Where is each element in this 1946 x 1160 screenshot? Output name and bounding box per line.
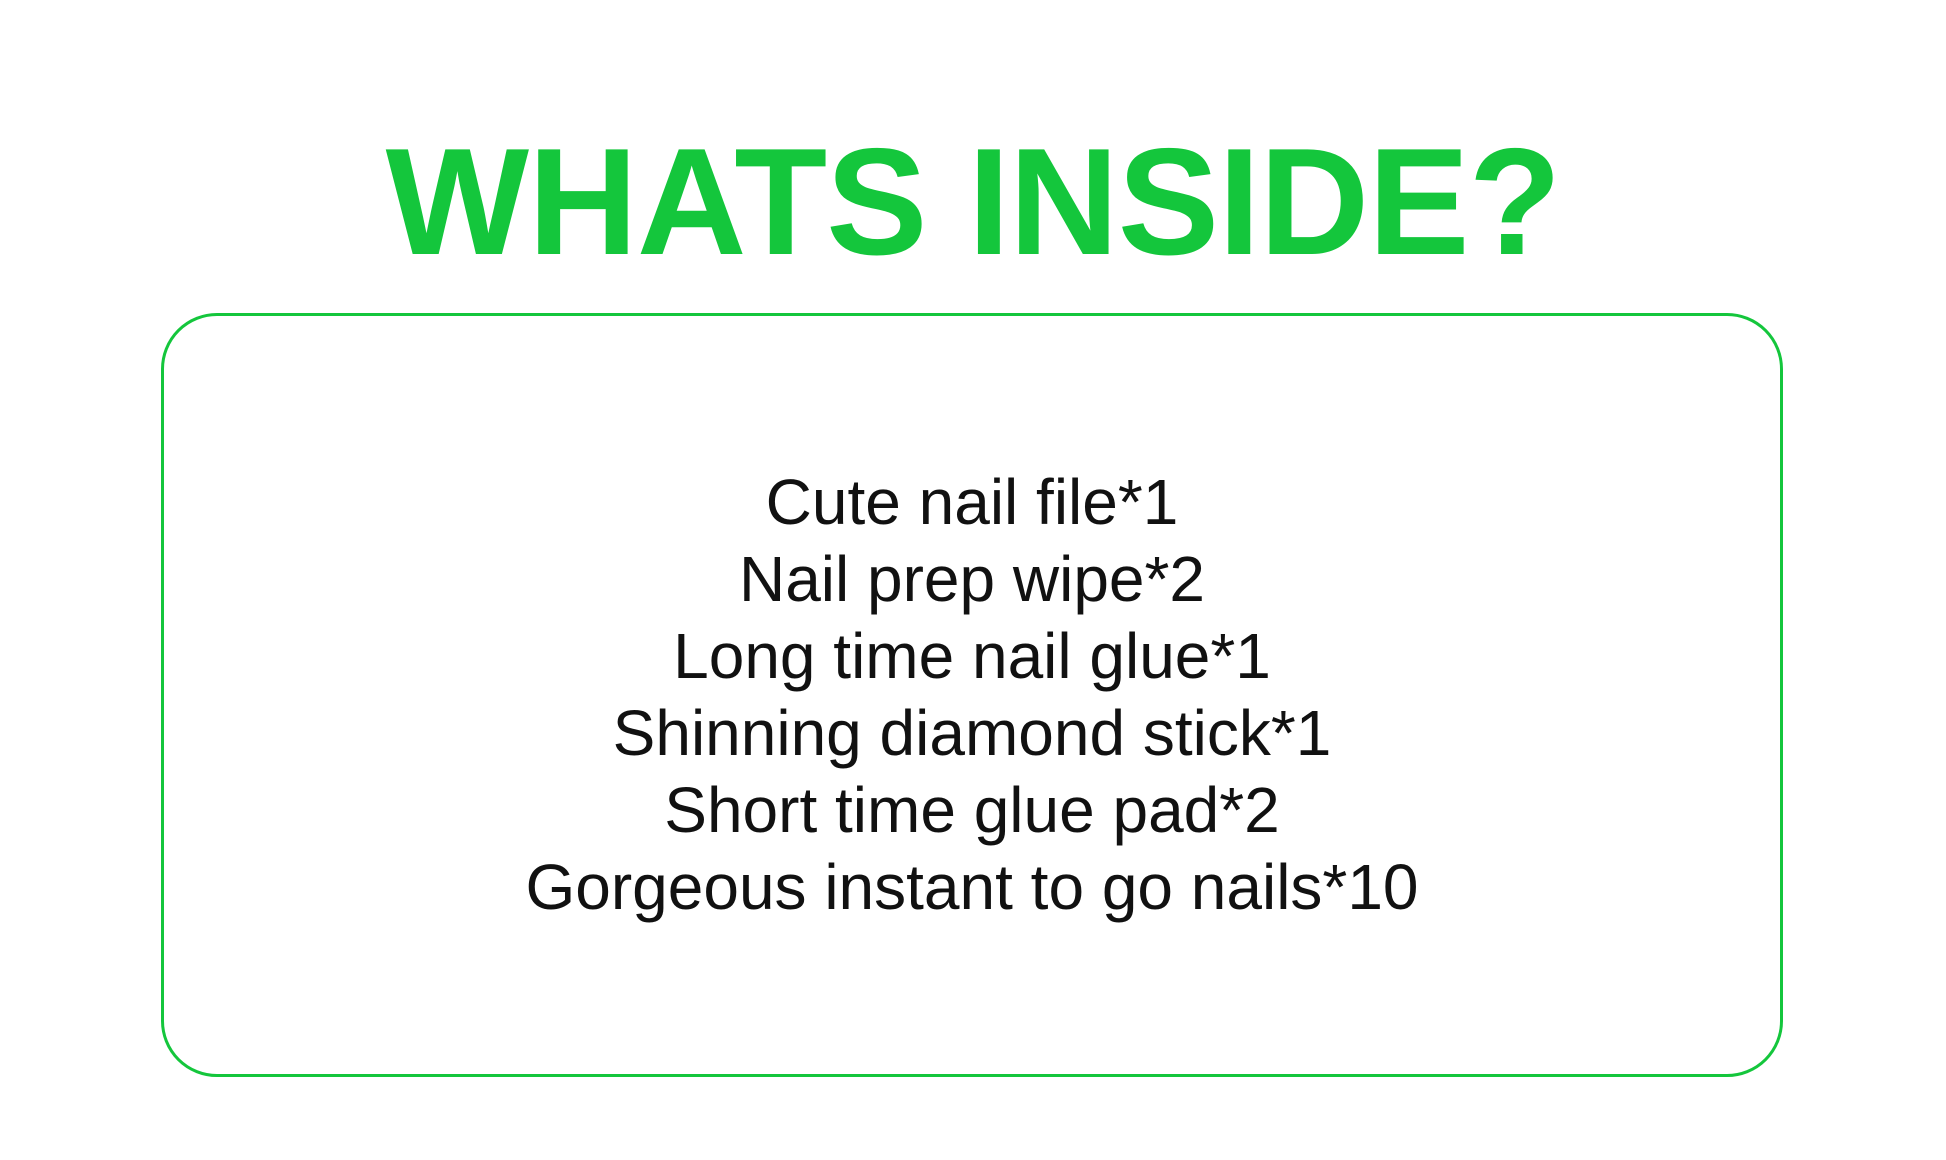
page-title: WHATS INSIDE? [0,126,1946,278]
whats-inside-card: WHATS INSIDE? Cute nail file*1 Nail prep… [0,0,1946,1160]
list-item: Cute nail file*1 [164,464,1780,541]
list-item: Shinning diamond stick*1 [164,695,1780,772]
package-contents-list: Cute nail file*1 Nail prep wipe*2 Long t… [164,464,1780,926]
list-item: Long time nail glue*1 [164,618,1780,695]
list-item: Gorgeous instant to go nails*10 [164,849,1780,926]
contents-panel: Cute nail file*1 Nail prep wipe*2 Long t… [161,313,1783,1077]
contents-panel-inner: Cute nail file*1 Nail prep wipe*2 Long t… [164,316,1780,1074]
list-item: Short time glue pad*2 [164,772,1780,849]
list-item: Nail prep wipe*2 [164,541,1780,618]
